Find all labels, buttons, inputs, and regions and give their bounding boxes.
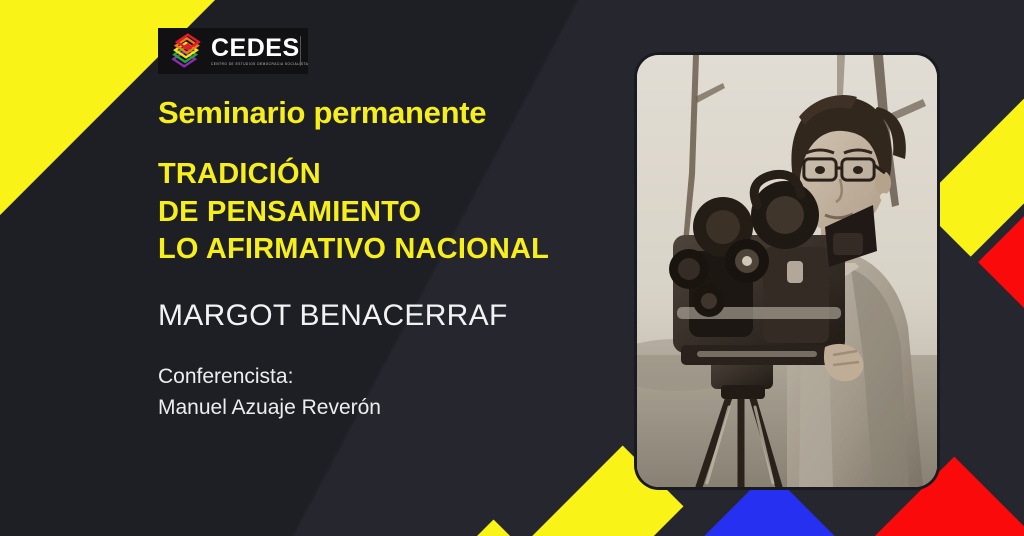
headline-line-3: LO AFIRMATIVO NACIONAL — [158, 231, 628, 269]
poster-canvas: CEDES CENTRO DE ESTUDIOS DEMOCRACIA SOCI… — [0, 0, 1024, 536]
speaker-name: Manuel Azuaje Reverón — [158, 393, 628, 423]
headline: TRADICIÓN DE PENSAMIENTO LO AFIRMATIVO N… — [158, 156, 628, 269]
cedes-logo: CEDES CENTRO DE ESTUDIOS DEMOCRACIA SOCI… — [158, 28, 308, 74]
decorative-stripe-yellow-bottom-inner — [387, 519, 534, 536]
kicker-seminario: Seminario permanente — [158, 96, 628, 130]
subject-name: MARGOT BENACERRAF — [158, 299, 628, 332]
cedes-logo-mark-icon — [166, 32, 206, 70]
cedes-logo-wordmark: CEDES — [211, 36, 308, 61]
logo-divider-rule — [300, 36, 301, 66]
headline-line-2: DE PENSAMIENTO — [158, 194, 628, 232]
speaker-label: Conferencista: — [158, 362, 628, 392]
portrait-photo-illustration — [637, 55, 937, 487]
portrait-photo — [637, 55, 937, 487]
cedes-logo-text: CEDES CENTRO DE ESTUDIOS DEMOCRACIA SOCI… — [211, 36, 308, 66]
headline-line-1: TRADICIÓN — [158, 156, 628, 194]
portrait-photo-canvas — [637, 55, 937, 487]
decorative-stripe-red-bottom-right — [999, 300, 1024, 536]
cedes-logo-subtitle: CENTRO DE ESTUDIOS DEMOCRACIA SOCIALISTA — [211, 63, 308, 66]
speaker-block: Conferencista: Manuel Azuaje Reverón — [158, 362, 628, 423]
poster-text-block: Seminario permanente TRADICIÓN DE PENSAM… — [158, 96, 628, 423]
